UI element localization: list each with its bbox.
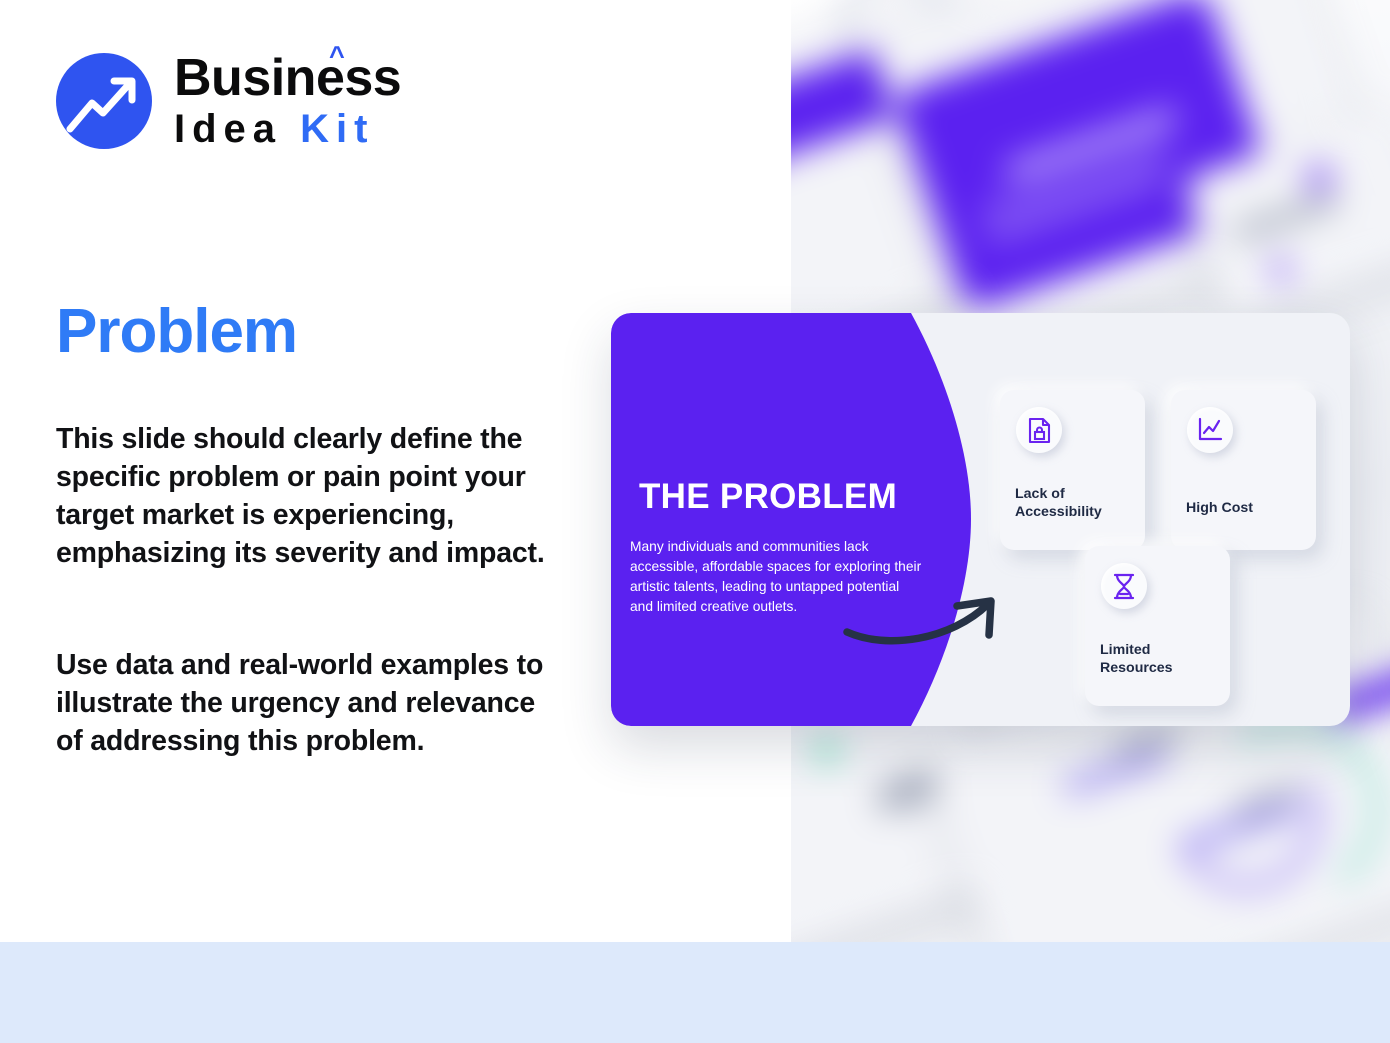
- curved-arrow-up-right-icon: [841, 588, 1011, 648]
- slide-heading: THE PROBLEM: [639, 477, 897, 517]
- slide-preview-card[interactable]: THE PROBLEM Many individuals and communi…: [611, 313, 1350, 726]
- feature-label: Limited Resources: [1100, 642, 1220, 678]
- body-paragraph-1: This slide should clearly define the spe…: [56, 421, 566, 573]
- brand-name-idea: Idea: [174, 107, 300, 151]
- caret-accent-icon: ^: [329, 43, 344, 70]
- line-chart-icon: [1187, 407, 1233, 453]
- trending-up-arrow-icon: [56, 53, 152, 149]
- bg-dot: [816, 740, 838, 762]
- feature-label: High Cost: [1186, 500, 1306, 518]
- page-title: Problem: [56, 296, 297, 367]
- body-paragraph-2: Use data and real-world examples to illu…: [56, 647, 566, 761]
- bg-dot: [1271, 260, 1291, 280]
- brand-wordmark: Business ^ Idea Kit: [174, 52, 401, 149]
- brand-name-text: Business: [174, 49, 401, 107]
- purple-accent-shape: [611, 313, 981, 726]
- bg-dot: [1306, 165, 1332, 191]
- feature-card-high-cost[interactable]: High Cost: [1171, 390, 1316, 550]
- slide-page: Business ^ Idea Kit Problem This slide s…: [0, 0, 1390, 1043]
- locked-document-icon: [1016, 407, 1062, 453]
- brand-logo[interactable]: Business ^ Idea Kit: [56, 52, 401, 149]
- feature-card-lack-of-accessibility[interactable]: Lack of Accessibility: [1000, 390, 1145, 550]
- bottom-color-band: [0, 942, 1390, 1043]
- brand-name-line1: Business ^: [174, 52, 401, 104]
- hourglass-icon: [1101, 563, 1147, 609]
- feature-label: Lack of Accessibility: [1015, 486, 1135, 522]
- feature-card-limited-resources[interactable]: Limited Resources: [1085, 546, 1230, 706]
- brand-name-kit: Kit: [300, 107, 374, 151]
- brand-name-line2: Idea Kit: [174, 109, 401, 149]
